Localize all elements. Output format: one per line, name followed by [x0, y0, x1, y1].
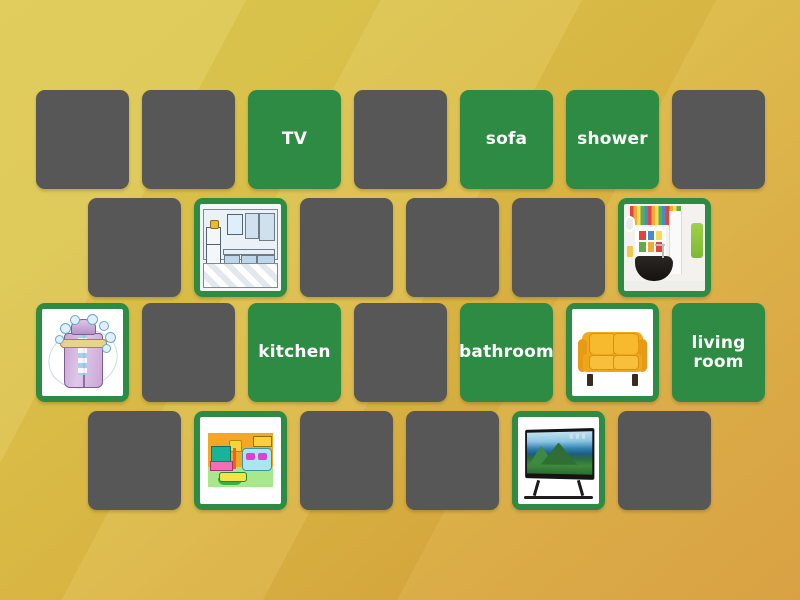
- tile-word-living-room[interactable]: living room: [672, 303, 765, 402]
- tile-image-bathroom[interactable]: [618, 198, 711, 297]
- livingroom-photo: [200, 417, 281, 504]
- tile-label: TV: [282, 130, 307, 149]
- tile-image-living-room[interactable]: [194, 411, 287, 510]
- tile-word-bathroom[interactable]: bathroom: [460, 303, 553, 402]
- tile-facedown[interactable]: [142, 90, 235, 189]
- tile-facedown[interactable]: [36, 90, 129, 189]
- tile-facedown[interactable]: [672, 90, 765, 189]
- tile-facedown[interactable]: [300, 198, 393, 297]
- tile-label: kitchen: [258, 343, 330, 362]
- sofa-photo: [572, 309, 653, 396]
- tile-image-shower[interactable]: [36, 303, 129, 402]
- tile-facedown[interactable]: [142, 303, 235, 402]
- tile-facedown[interactable]: [88, 198, 181, 297]
- tile-facedown[interactable]: [512, 198, 605, 297]
- tile-row-2: [88, 198, 711, 297]
- tile-word-TV[interactable]: TV: [248, 90, 341, 189]
- tile-label: living room: [672, 334, 765, 372]
- tile-word-kitchen[interactable]: kitchen: [248, 303, 341, 402]
- tile-facedown[interactable]: [300, 411, 393, 510]
- tile-facedown[interactable]: [354, 90, 447, 189]
- tile-image-sofa[interactable]: [566, 303, 659, 402]
- tile-label: sofa: [486, 130, 527, 149]
- tile-row-1: TVsofashower: [36, 90, 765, 189]
- tile-row-4: [88, 411, 711, 510]
- tile-facedown[interactable]: [406, 411, 499, 510]
- tile-image-kitchen[interactable]: [194, 198, 287, 297]
- tile-label: bathroom: [460, 343, 553, 362]
- tile-row-3: kitchenbathroom living room: [36, 303, 765, 402]
- tile-facedown[interactable]: [406, 198, 499, 297]
- tile-facedown[interactable]: [354, 303, 447, 402]
- matching-game-board: TVsofashower: [0, 0, 800, 600]
- bathroom-photo: [624, 204, 705, 291]
- tile-word-sofa[interactable]: sofa: [460, 90, 553, 189]
- tile-facedown[interactable]: [88, 411, 181, 510]
- tile-label: shower: [577, 130, 648, 149]
- tile-image-TV[interactable]: [512, 411, 605, 510]
- tile-facedown[interactable]: [618, 411, 711, 510]
- tv-photo: [518, 417, 599, 504]
- shower-photo: [42, 309, 123, 396]
- kitchen-photo: [200, 204, 281, 291]
- tile-word-shower[interactable]: shower: [566, 90, 659, 189]
